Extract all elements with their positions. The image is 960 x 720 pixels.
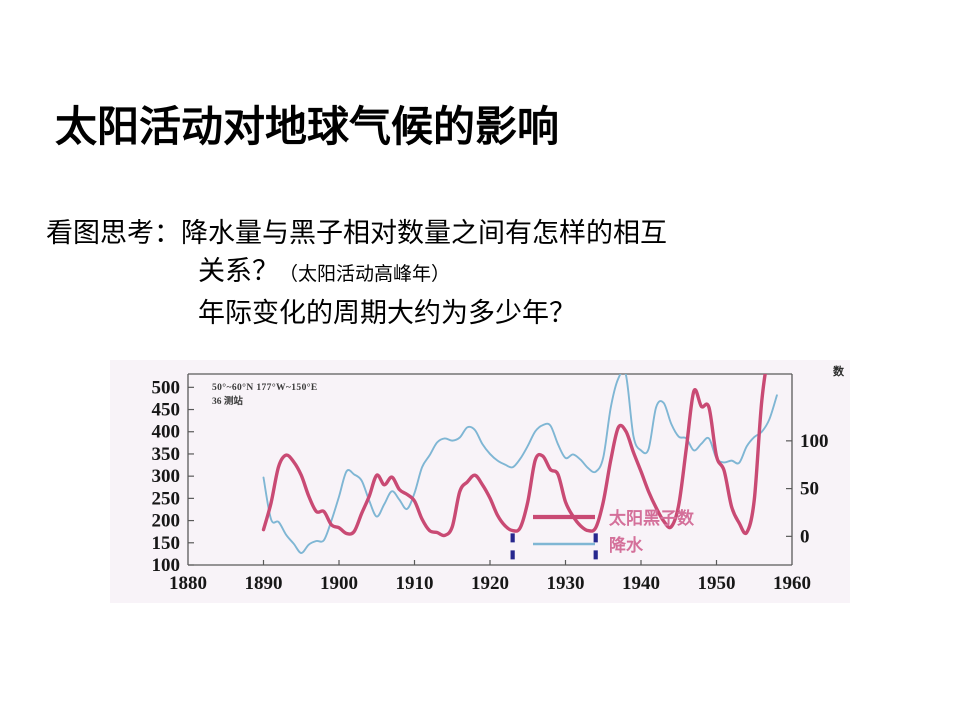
chart-annotation-stations: 36 测站 [212,395,243,407]
question-block: 看图思考：降水量与黑子相对数量之间有怎样的相互 关系？（太阳活动高峰年） 年际变… [46,214,846,332]
x-axis-tick-label: 1910 [396,573,434,594]
y-axis-left-tick-label: 450 [152,400,181,421]
x-axis-tick-label: 1920 [471,573,509,594]
y-axis-right-tick-label: 100 [800,431,829,452]
y-axis-left-tick-label: 200 [152,511,181,532]
slide-root: 太阳活动对地球气候的影响 看图思考：降水量与黑子相对数量之间有怎样的相互 关系？… [0,0,960,720]
question-line-2: 关系？（太阳活动高峰年） [46,252,846,294]
x-axis-tick-label: 1950 [698,573,736,594]
x-axis-tick-label: 1880 [169,573,207,594]
y-axis-left-tick-label: 150 [152,533,181,554]
page-title: 太阳活动对地球气候的影响 [55,101,559,153]
question-line-2-main: 关系？ [198,256,279,286]
y-axis-right-tick-label: 0 [800,526,810,547]
chart-annotation-region: 50°~60°N 177°W~150°E [212,382,318,393]
y-axis-left-tick-label: 400 [152,422,181,443]
question-line-1: 看图思考：降水量与黑子相对数量之间有怎样的相互 [46,214,846,252]
x-axis-tick-label: 1890 [245,573,283,594]
y-axis-left-tick-label: 350 [152,444,181,465]
figure-corner-label: 数 [833,363,844,379]
x-axis-tick-label: 1940 [622,573,660,594]
y-axis-left-tick-label: 300 [152,466,181,487]
x-axis-tick-label: 1930 [547,573,585,594]
x-axis-tick-label: 1900 [320,573,358,594]
chart-figure: 数 10015020025030035040045050005010018801… [110,360,850,603]
y-axis-left-tick-label: 250 [152,488,181,509]
question-line-3: 年际变化的周期大约为多少年？ [46,294,846,332]
x-axis-tick-label: 1960 [773,573,811,594]
y-axis-left-tick-label: 500 [152,377,181,398]
sunspot-precipitation-chart: 1001502002503003504004505000501001880189… [110,360,850,603]
legend-label-0: 太阳黑子数 [609,508,695,529]
y-axis-right-tick-label: 50 [800,479,819,500]
question-line-2-paren: （太阳活动高峰年） [279,264,450,285]
legend-label-1: 降水 [609,535,644,556]
